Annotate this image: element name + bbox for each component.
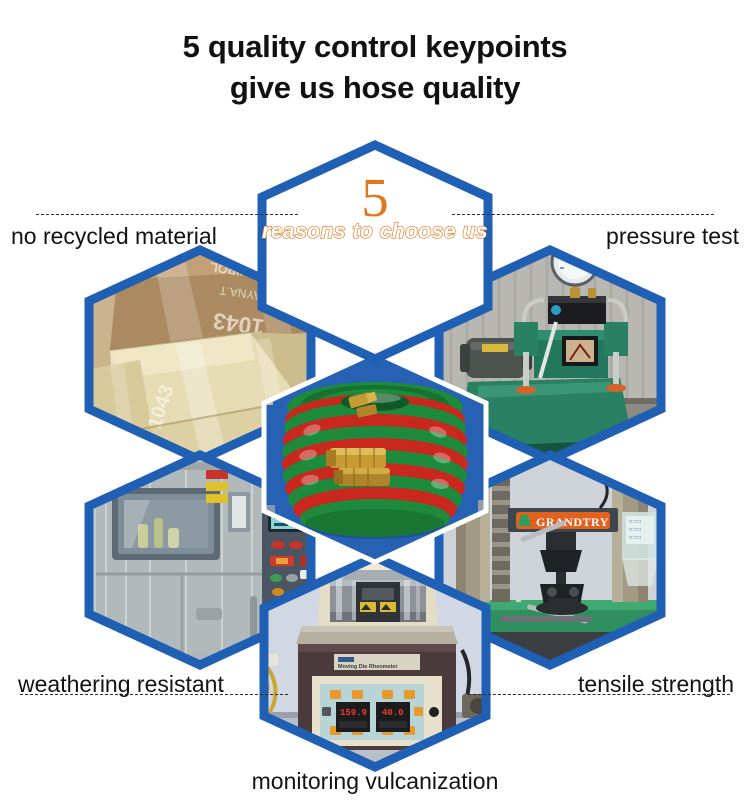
reasons-count: 5 xyxy=(0,170,750,225)
label-tensile-strength: tensile strength xyxy=(578,673,734,696)
label-no-recycled-material: no recycled material xyxy=(11,225,217,248)
label-weathering-resistant: weathering resistant xyxy=(18,673,224,696)
label-monitoring-vulcanization: monitoring vulcanization xyxy=(0,770,750,793)
label-pressure-test: pressure test xyxy=(606,225,739,248)
infographic-root: 5 quality control keypoints give us hose… xyxy=(0,0,750,800)
